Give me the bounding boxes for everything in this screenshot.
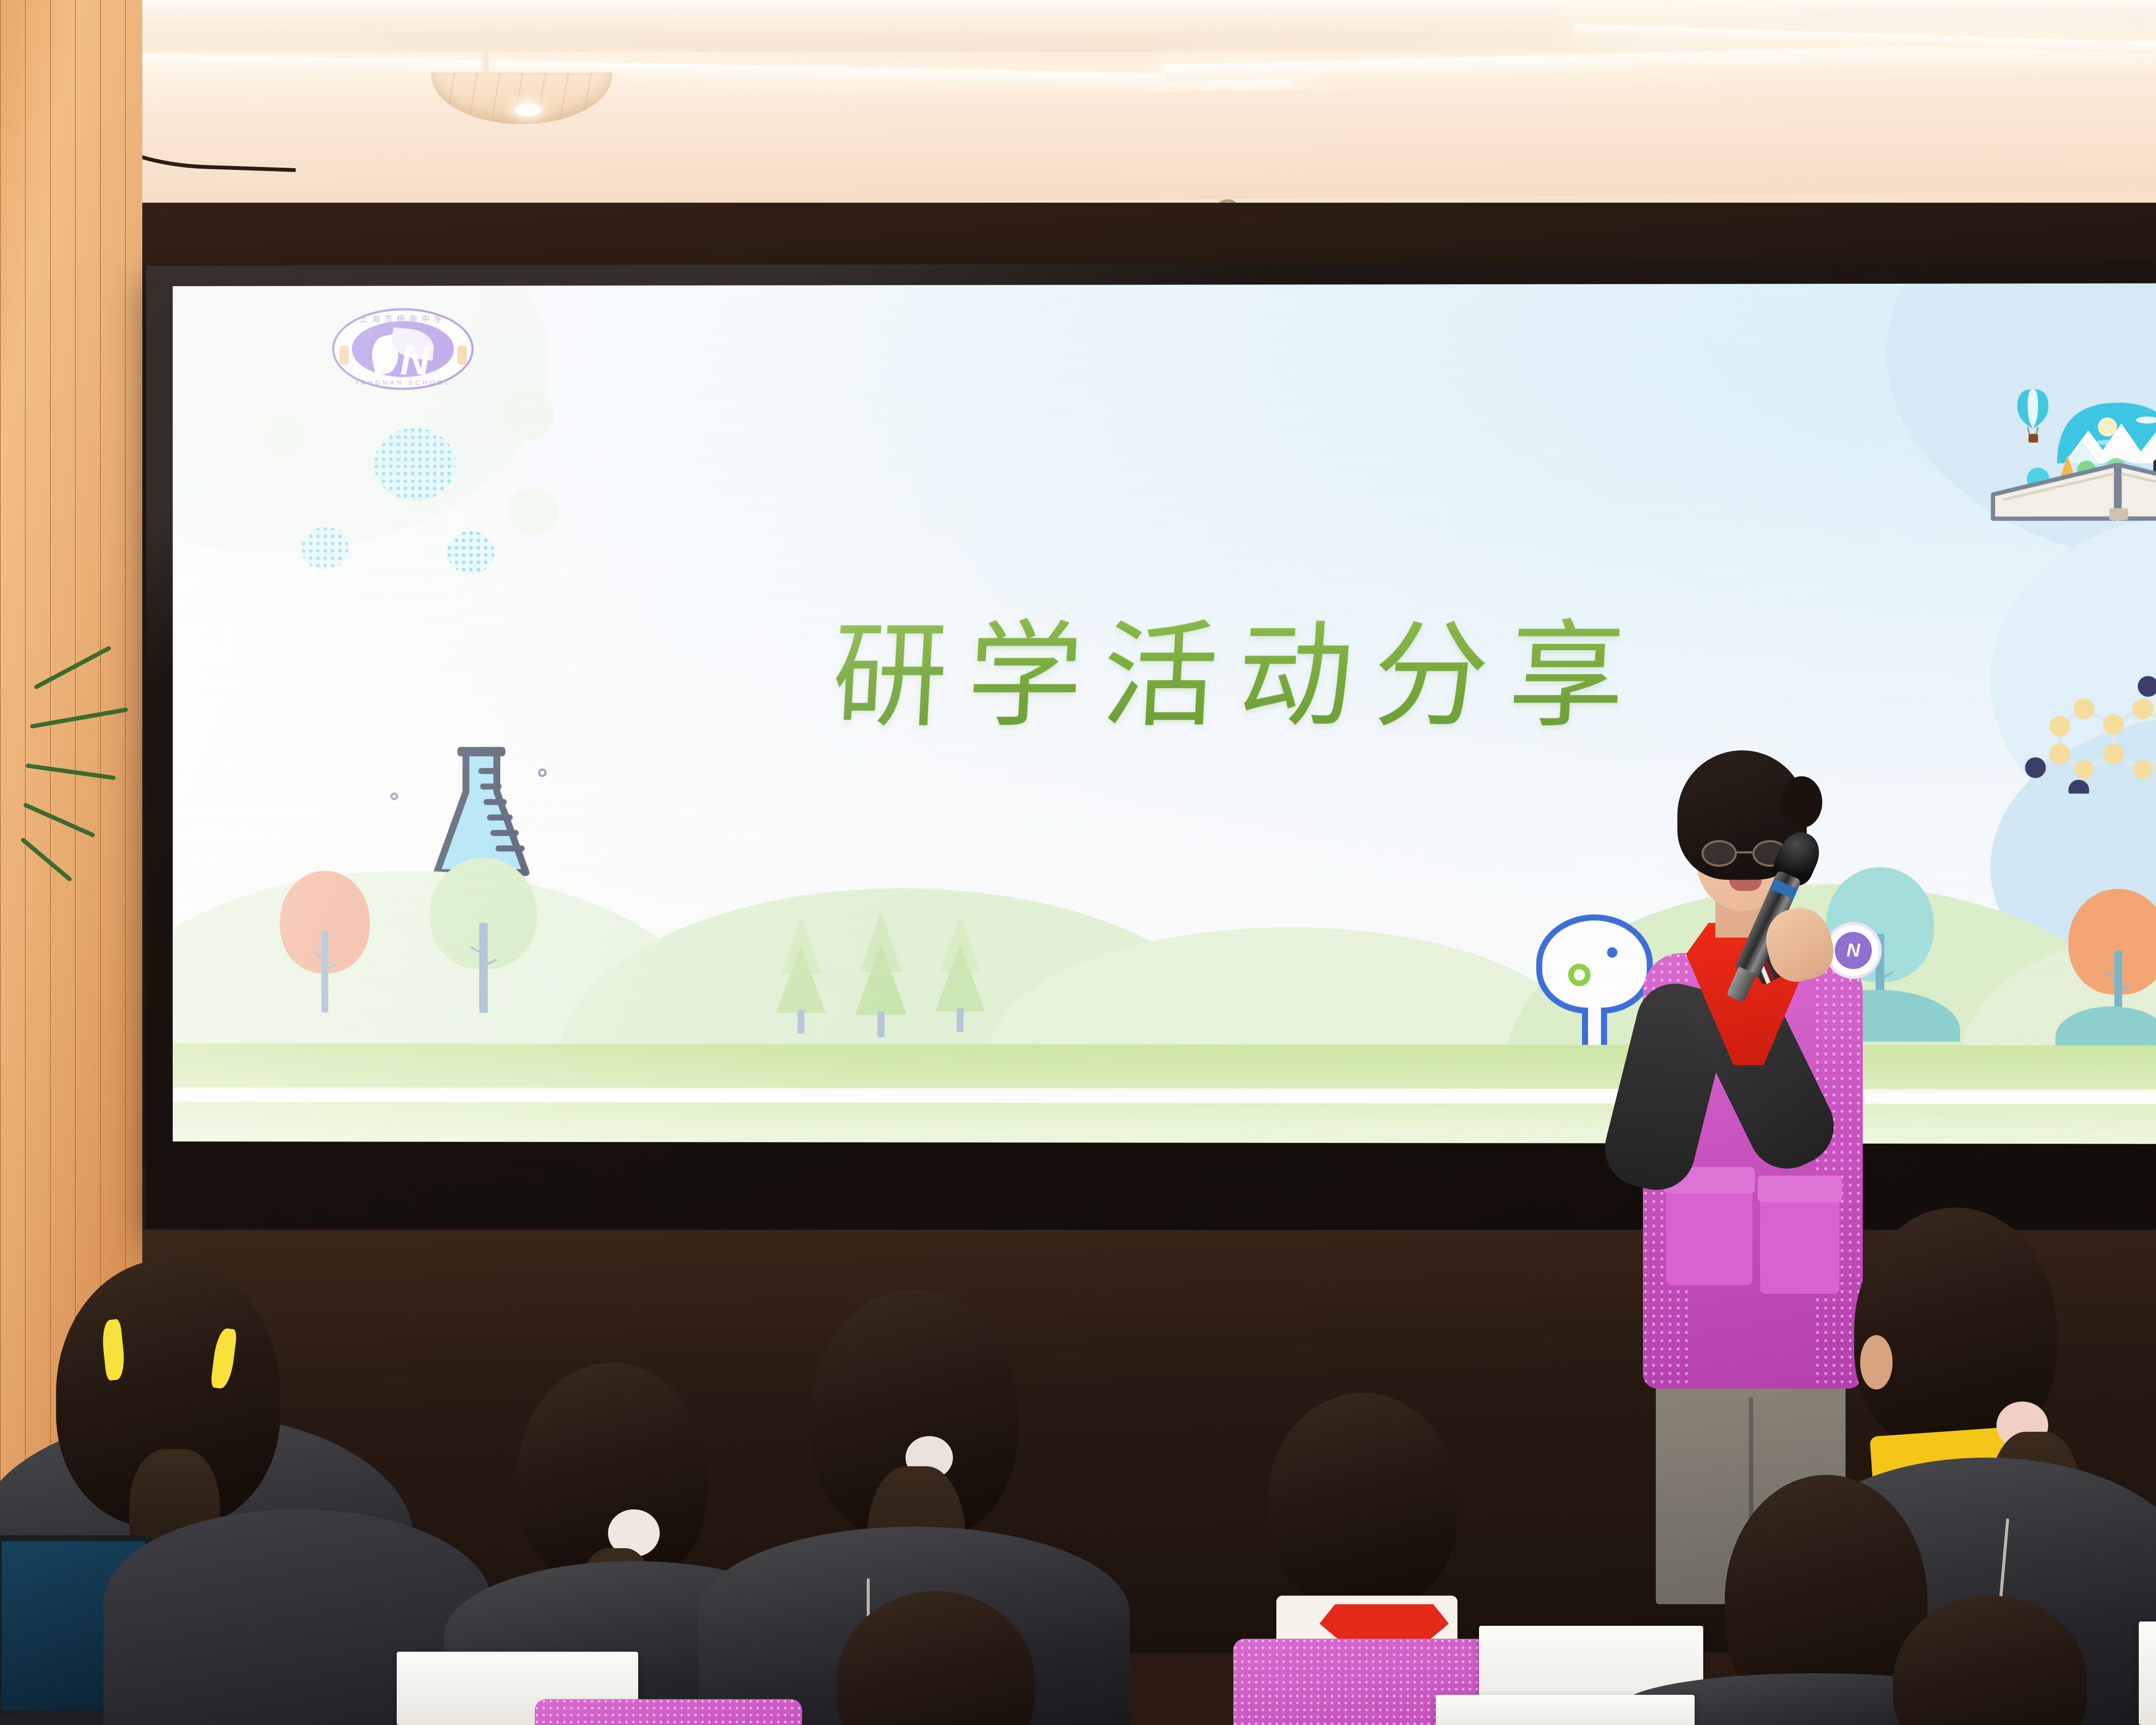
glasses-bridge [1737, 851, 1752, 853]
tree-crown [2068, 889, 2156, 995]
student-ear [1860, 1335, 1893, 1389]
school-logo: 上海市杨南中学 N YANGNAN SCHOOL [332, 308, 473, 390]
logo-arc-text-bottom: YANGNAN SCHOOL [332, 379, 473, 386]
vest-mesh [535, 1699, 802, 1725]
presenter-hair-bun [1781, 776, 1822, 828]
pocket-flap [1758, 1176, 1842, 1202]
logo-letter: N [400, 341, 442, 373]
student-hair [837, 1591, 1035, 1725]
slide-title: 研学活动分享 [173, 582, 2156, 750]
classroom-scene: 上海市杨南中学 N YANGNAN SCHOOL [0, 0, 2156, 1725]
student-hair [1268, 1393, 1457, 1609]
student-head [1893, 1596, 2087, 1725]
dotted-bubble [447, 531, 494, 574]
soft-bubble [258, 411, 305, 458]
ceiling-beam [0, 79, 2156, 210]
badge-letter: N [1835, 932, 1872, 969]
soft-bubble [507, 488, 558, 535]
book-svg [1977, 361, 2156, 526]
conifer-svg [928, 910, 993, 1039]
student-hair [1893, 1596, 2087, 1725]
tree-trunk [479, 923, 488, 1013]
student-desk[interactable] [1436, 1695, 1695, 1725]
student-vest [535, 1699, 802, 1725]
conifer-tree [769, 911, 834, 1041]
vest-pocket [1666, 1177, 1752, 1285]
conifer-tree [846, 906, 915, 1044]
microphone-tail [1726, 966, 1756, 1003]
conifer-svg [846, 906, 915, 1044]
student-head [1268, 1393, 1457, 1609]
soft-bubble [498, 389, 554, 441]
logo-accent-left [339, 346, 349, 365]
tree-round [280, 871, 370, 1013]
dotted-bubble [374, 428, 456, 501]
lamp-bulb [514, 103, 541, 116]
dotted-bubble [301, 527, 348, 570]
glasses-lens [1702, 840, 1737, 867]
student-desk[interactable] [2139, 1621, 2156, 1725]
ceiling-beam [0, 0, 2156, 52]
potted-plant [0, 673, 82, 897]
logo-accent-right [457, 346, 467, 365]
conifer-svg [769, 911, 834, 1041]
tree-trunk [321, 930, 329, 1013]
vest-pocket [1760, 1186, 1839, 1294]
open-book-travel-illustration [1977, 361, 2156, 526]
plant-frond [20, 837, 72, 882]
tree-round [430, 858, 537, 1013]
student-presenter: N [1578, 750, 1906, 1596]
conifer-tree [928, 910, 993, 1039]
student-head [837, 1591, 1035, 1725]
